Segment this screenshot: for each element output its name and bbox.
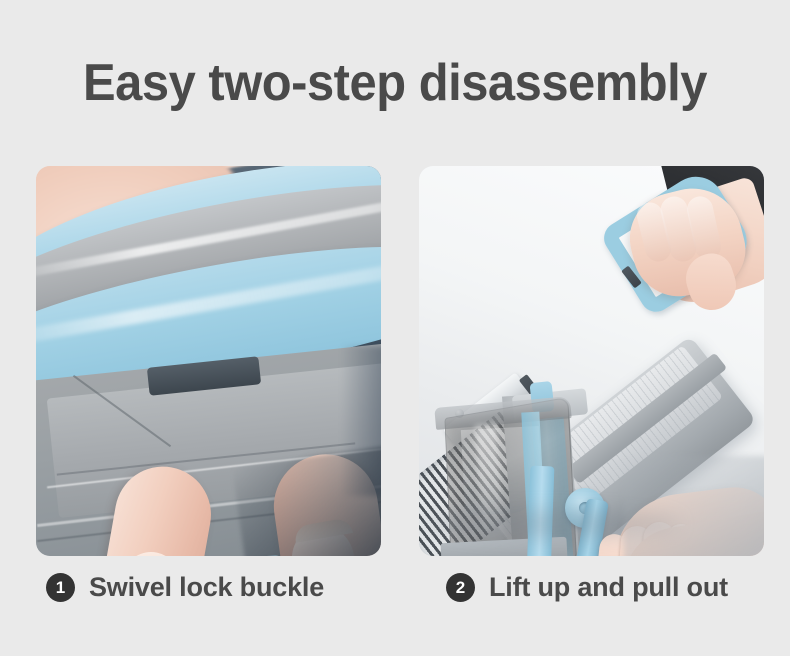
step-1-badge: 1 — [46, 573, 75, 602]
photo-corner-shading — [624, 456, 764, 556]
step-2-label: Lift up and pull out — [489, 572, 728, 603]
step-2-photo-panel — [419, 166, 764, 556]
swivel-lock-photo — [36, 166, 381, 556]
step-2-badge: 2 — [446, 573, 475, 602]
step-1-photo-panel — [36, 166, 381, 556]
page-title: Easy two-step disassembly — [24, 52, 767, 114]
step-1-caption: 1 Swivel lock buckle — [46, 568, 324, 606]
step-2-caption: 2 Lift up and pull out — [446, 568, 728, 606]
step-1-label: Swivel lock buckle — [89, 572, 324, 603]
lift-and-pull-photo — [419, 166, 764, 556]
promo-banner: Easy two-step disassembly — [0, 0, 790, 656]
